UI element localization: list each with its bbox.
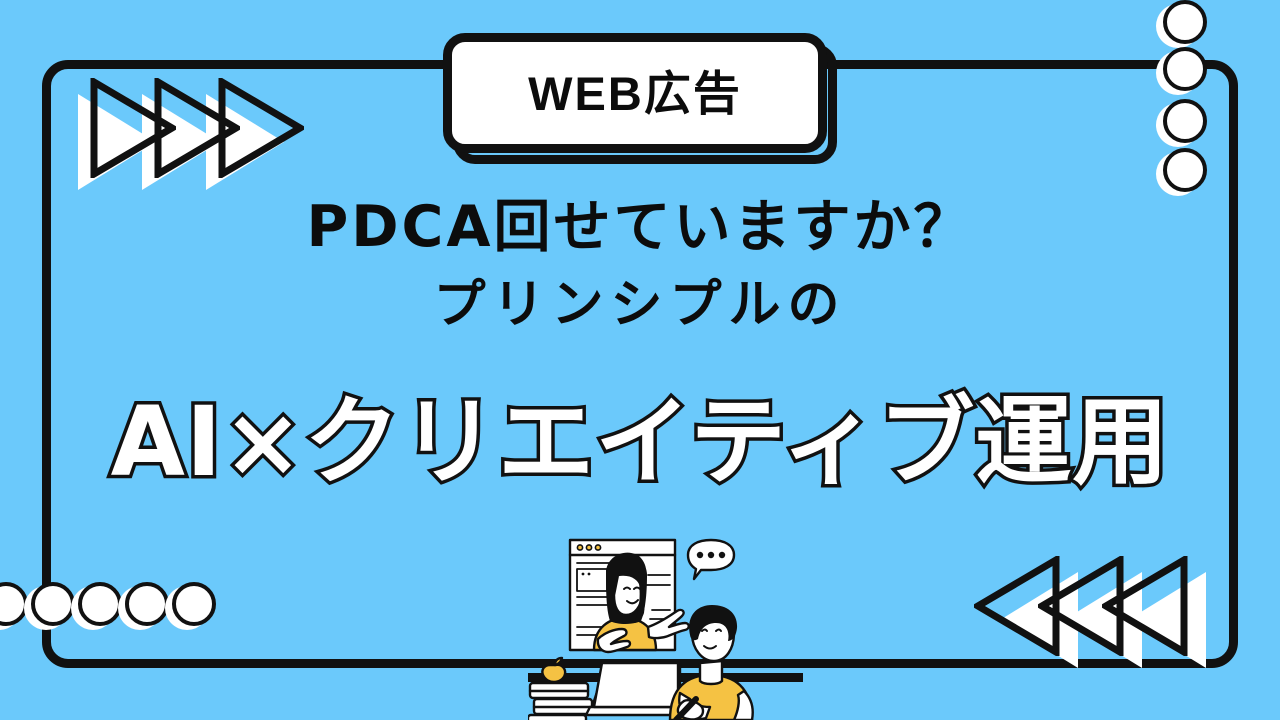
main-headline: AI×クリエイティブ運用: [0, 394, 1280, 490]
circle-dot-right-3: [1163, 99, 1207, 143]
circle-ring: [172, 582, 216, 626]
triangle-right-outline-3: [218, 78, 304, 178]
circle-ring: [78, 582, 122, 626]
sub-headline-block: PDCA回せていますか？ プリンシプルの: [0, 196, 1280, 334]
poster-canvas: WEB広告 PDCA回せていますか？ プリンシプルの AI×クリエイティブ運用: [0, 0, 1280, 720]
fast-forward-triangles: [78, 78, 308, 188]
circle-dot-bottom-3: [78, 582, 122, 626]
circle-ring: [1163, 47, 1207, 91]
circle-ring: [1163, 0, 1207, 44]
circle-dot-right-1: [1163, 0, 1207, 44]
circle-ring: [31, 582, 75, 626]
circle-ring: [125, 582, 169, 626]
badge-body: WEB広告: [443, 33, 827, 153]
badge-label: WEB広告: [528, 70, 742, 117]
category-badge: WEB広告: [443, 33, 827, 163]
online-meeting-illustration: [528, 515, 803, 720]
sub-headline-line-1: PDCA回せていますか？: [0, 196, 1280, 260]
main-headline-text: AI×クリエイティブ運用: [111, 394, 1170, 490]
circle-dot-bottom-2: [31, 582, 75, 626]
sub-headline-line-2: プリンシプルの: [0, 276, 1280, 334]
triangle-left-outline-3: [1102, 556, 1188, 656]
circle-ring: [1163, 99, 1207, 143]
circle-dot-bottom-5: [172, 582, 216, 626]
circle-dot-bottom-4: [125, 582, 169, 626]
circle-dot-right-2: [1163, 47, 1207, 91]
circle-dot-right-4: [1163, 148, 1207, 192]
rewind-triangles: [974, 556, 1204, 666]
circle-ring: [1163, 148, 1207, 192]
